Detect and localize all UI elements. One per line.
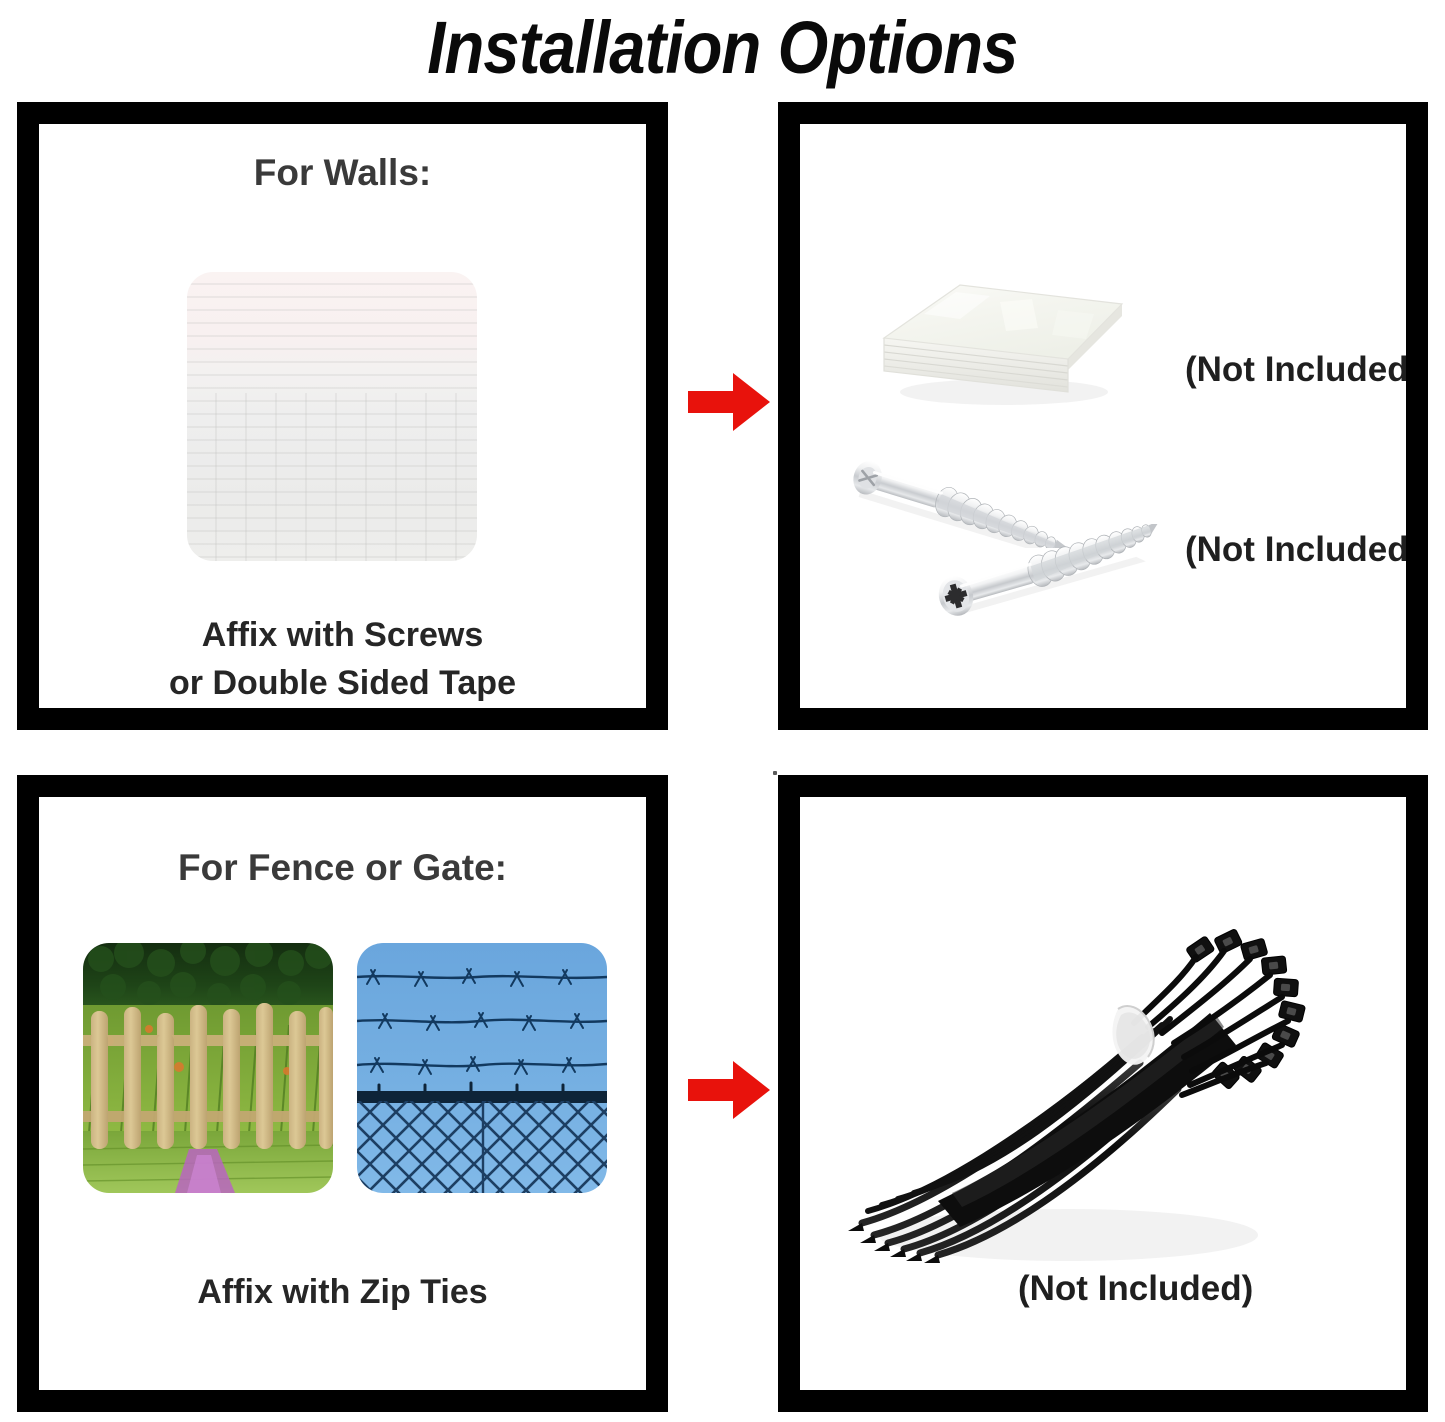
caption-or-double-sided-tape: or Double Sided Tape: [39, 664, 646, 703]
panel-for-walls: For Walls: Affix with Screws or Double S…: [17, 102, 668, 730]
heading-for-fence-or-gate: For Fence or Gate:: [39, 847, 646, 889]
caption-affix-with-zip-ties: Affix with Zip Ties: [39, 1273, 646, 1312]
panel-fence-hardware-content: (Not Included): [800, 797, 1406, 1390]
panel-fence-hardware: (Not Included): [778, 775, 1428, 1412]
page-title: Installation Options: [427, 11, 1017, 85]
chain-link-barbed-wire-fence-photo: [357, 943, 607, 1193]
red-right-arrow-icon: [686, 1058, 772, 1122]
phillips-wood-screw-image: [920, 524, 1172, 624]
caption-affix-with-screws: Affix with Screws: [39, 616, 646, 655]
black-zip-tie-bundle-image: [818, 905, 1338, 1305]
panel-wall-hardware: (Not Included): [778, 102, 1428, 730]
double-sided-tape-stack-image: [872, 242, 1134, 412]
panel-wall-hardware-content: (Not Included): [800, 124, 1406, 708]
panel-for-fence-or-gate: For Fence or Gate:: [17, 775, 668, 1412]
label-screws-not-included: (Not Included): [1185, 530, 1406, 570]
title-bar: Installation Options: [0, 0, 1445, 96]
image-artifact-speck: [773, 771, 777, 775]
label-tape-not-included: (Not Included): [1185, 350, 1406, 390]
label-zip-ties-not-included: (Not Included): [1018, 1269, 1253, 1309]
panel-for-walls-content: For Walls: Affix with Screws or Double S…: [39, 124, 646, 708]
white-brick-wall-swatch-image: [187, 272, 477, 561]
wooden-picket-fence-photo: [83, 943, 333, 1193]
red-right-arrow-icon: [686, 370, 772, 434]
heading-for-walls: For Walls:: [39, 152, 646, 194]
panel-for-fence-content: For Fence or Gate:: [39, 797, 646, 1390]
